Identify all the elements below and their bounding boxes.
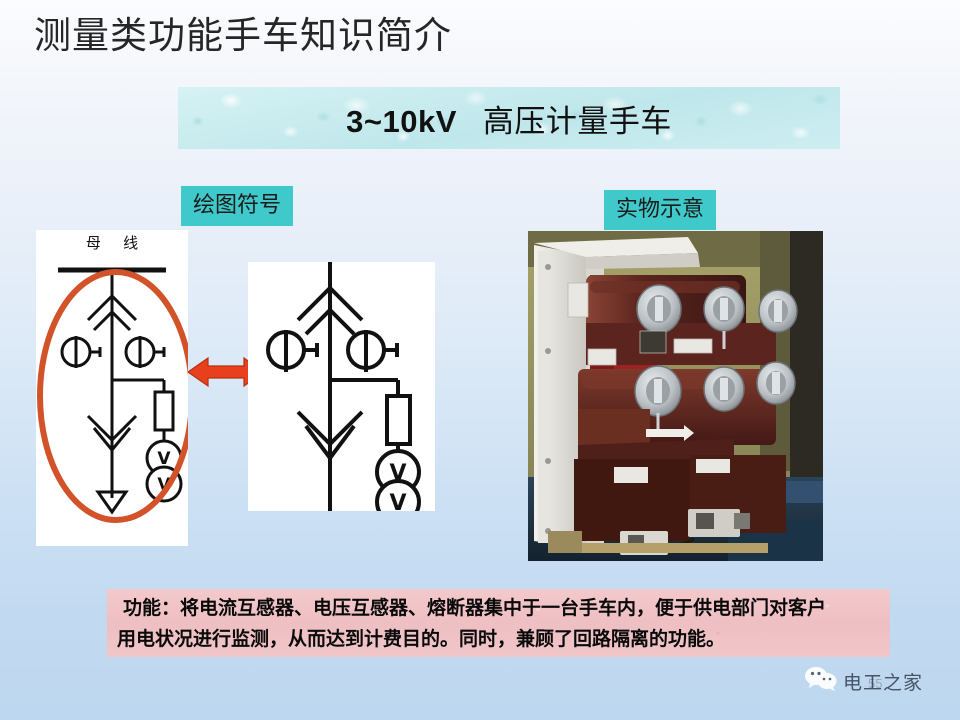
- svg-text:V: V: [157, 449, 171, 469]
- svg-text:V: V: [389, 491, 406, 511]
- section-label-physical-photo: 实物示意: [604, 190, 716, 230]
- schematic-panel-overview: V V: [36, 230, 188, 546]
- page-title: 测量类功能手车知识简介: [34, 12, 452, 60]
- equipment-photo: [528, 231, 823, 561]
- section-label-drawing-symbol: 绘图符号: [181, 186, 293, 226]
- banner-name: 高压计量手车: [483, 104, 672, 139]
- caption-line-1: 功能：将电流互感器、电压互感器、熔断器集中于一台手车内，便于供电部门对客户: [117, 593, 882, 624]
- svg-text:V: V: [389, 461, 406, 486]
- banner-text: 3~10kV高压计量手车: [346, 96, 672, 141]
- wechat-icon: [804, 666, 838, 697]
- caption-line-2: 用电状况进行监测，从而达到计费目的。同时，兼顾了回路隔离的功能。: [117, 624, 882, 655]
- busbar-label: 母 线: [36, 232, 188, 253]
- slide-canvas: 测量类功能手车知识简介 3~10kV高压计量手车 绘图符号 实物示意: [0, 0, 960, 720]
- banner-voltage: 3~10kV: [346, 104, 457, 139]
- schematic-panel-detail: V V: [248, 262, 435, 511]
- function-caption: 功能：将电流互感器、电压互感器、熔断器集中于一台手车内，便于供电部门对客户 用电…: [107, 589, 890, 657]
- watermark-text: 电工之家: [843, 668, 923, 695]
- watermark: 电工之家: [804, 666, 923, 697]
- subtitle-banner: 3~10kV高压计量手车: [178, 87, 840, 149]
